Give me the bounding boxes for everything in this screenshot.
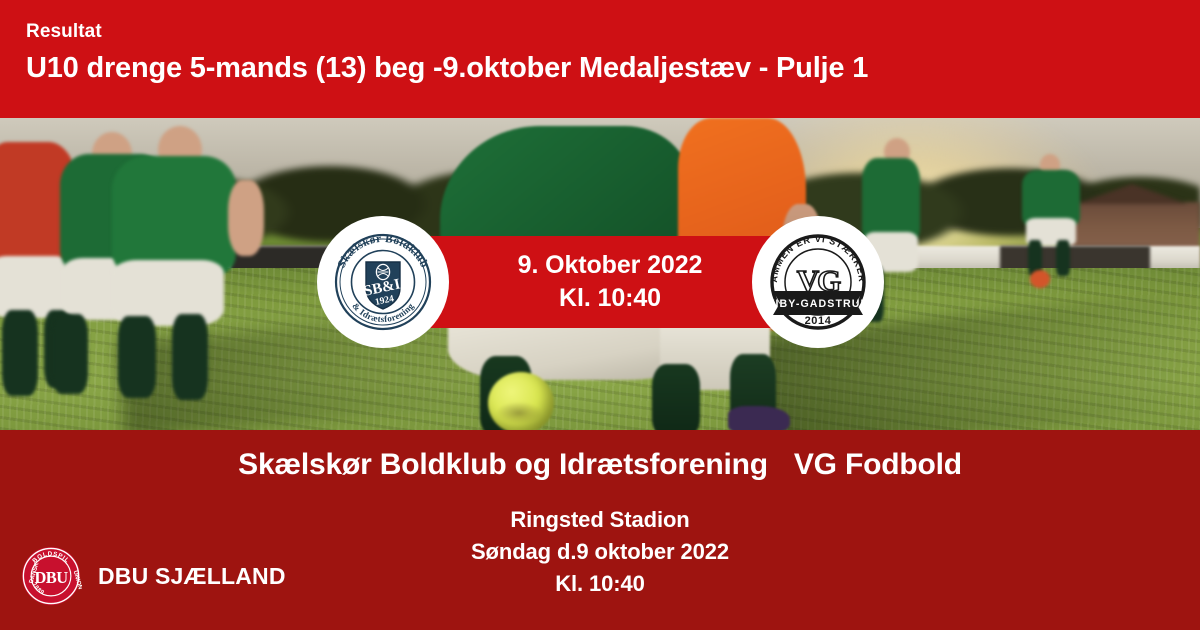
away-team-name: VG Fodbold — [794, 448, 962, 481]
header-banner: Resultat U10 drenge 5-mands (13) beg -9.… — [0, 0, 1200, 118]
viby-gadstrup-crest-icon: SAMMEN ER VI STÆRKERE VG VIBY-GADSTRUP 2… — [759, 223, 877, 341]
venue-name: Ringsted Stadion — [0, 504, 1200, 536]
photo-player-three-sock-right — [172, 314, 208, 400]
home-team-name: Skælskør Boldklub og Idrætsforening — [238, 448, 768, 481]
dbu-logo-icon: BOLDSPIL 1889 DANSK UNION DBU — [20, 545, 82, 607]
photo-player-red-sock-left — [2, 310, 38, 396]
photo-player-three-sock-left — [118, 316, 156, 398]
teams-row: Skælskør Boldklub og IdrætsforeningVG Fo… — [0, 448, 1200, 482]
dbu-footer: BOLDSPIL 1889 DANSK UNION DBU DBU SJÆLLA… — [20, 545, 286, 607]
svg-text:VIBY-GADSTRUP: VIBY-GADSTRUP — [767, 298, 868, 310]
dbu-org-name: DBU SJÆLLAND — [98, 563, 286, 590]
svg-text:2014: 2014 — [805, 315, 832, 327]
match-time: Kl. 10:40 — [559, 282, 661, 315]
photo-player-two-sock — [52, 314, 88, 394]
photo-subject-leg-right — [652, 364, 700, 430]
skaelskoer-crest-icon: Skælskør Boldklub & Idrætsforening SB&I … — [323, 222, 443, 342]
match-date: 9. Oktober 2022 — [518, 249, 703, 282]
photo-match-ball — [488, 372, 554, 430]
home-team-crest: Skælskør Boldklub & Idrætsforening SB&I … — [317, 216, 449, 348]
match-result-card: Resultat U10 drenge 5-mands (13) beg -9.… — [0, 0, 1200, 630]
photo-distant-ball — [1030, 270, 1050, 288]
page-title: U10 drenge 5-mands (13) beg -9.oktober M… — [26, 50, 1200, 86]
photo-player-three-shirt — [112, 156, 236, 276]
photo-player-three-arm — [228, 180, 264, 256]
away-team-crest: SAMMEN ER VI STÆRKERE VG VIBY-GADSTRUP 2… — [752, 216, 884, 348]
photo-player-distant-sock-right — [1056, 240, 1070, 276]
date-banner: 9. Oktober 2022 Kl. 10:40 — [430, 236, 790, 328]
svg-text:DBU: DBU — [35, 568, 69, 587]
header-kicker: Resultat — [26, 22, 1200, 43]
photo-subject-boot — [728, 406, 790, 430]
